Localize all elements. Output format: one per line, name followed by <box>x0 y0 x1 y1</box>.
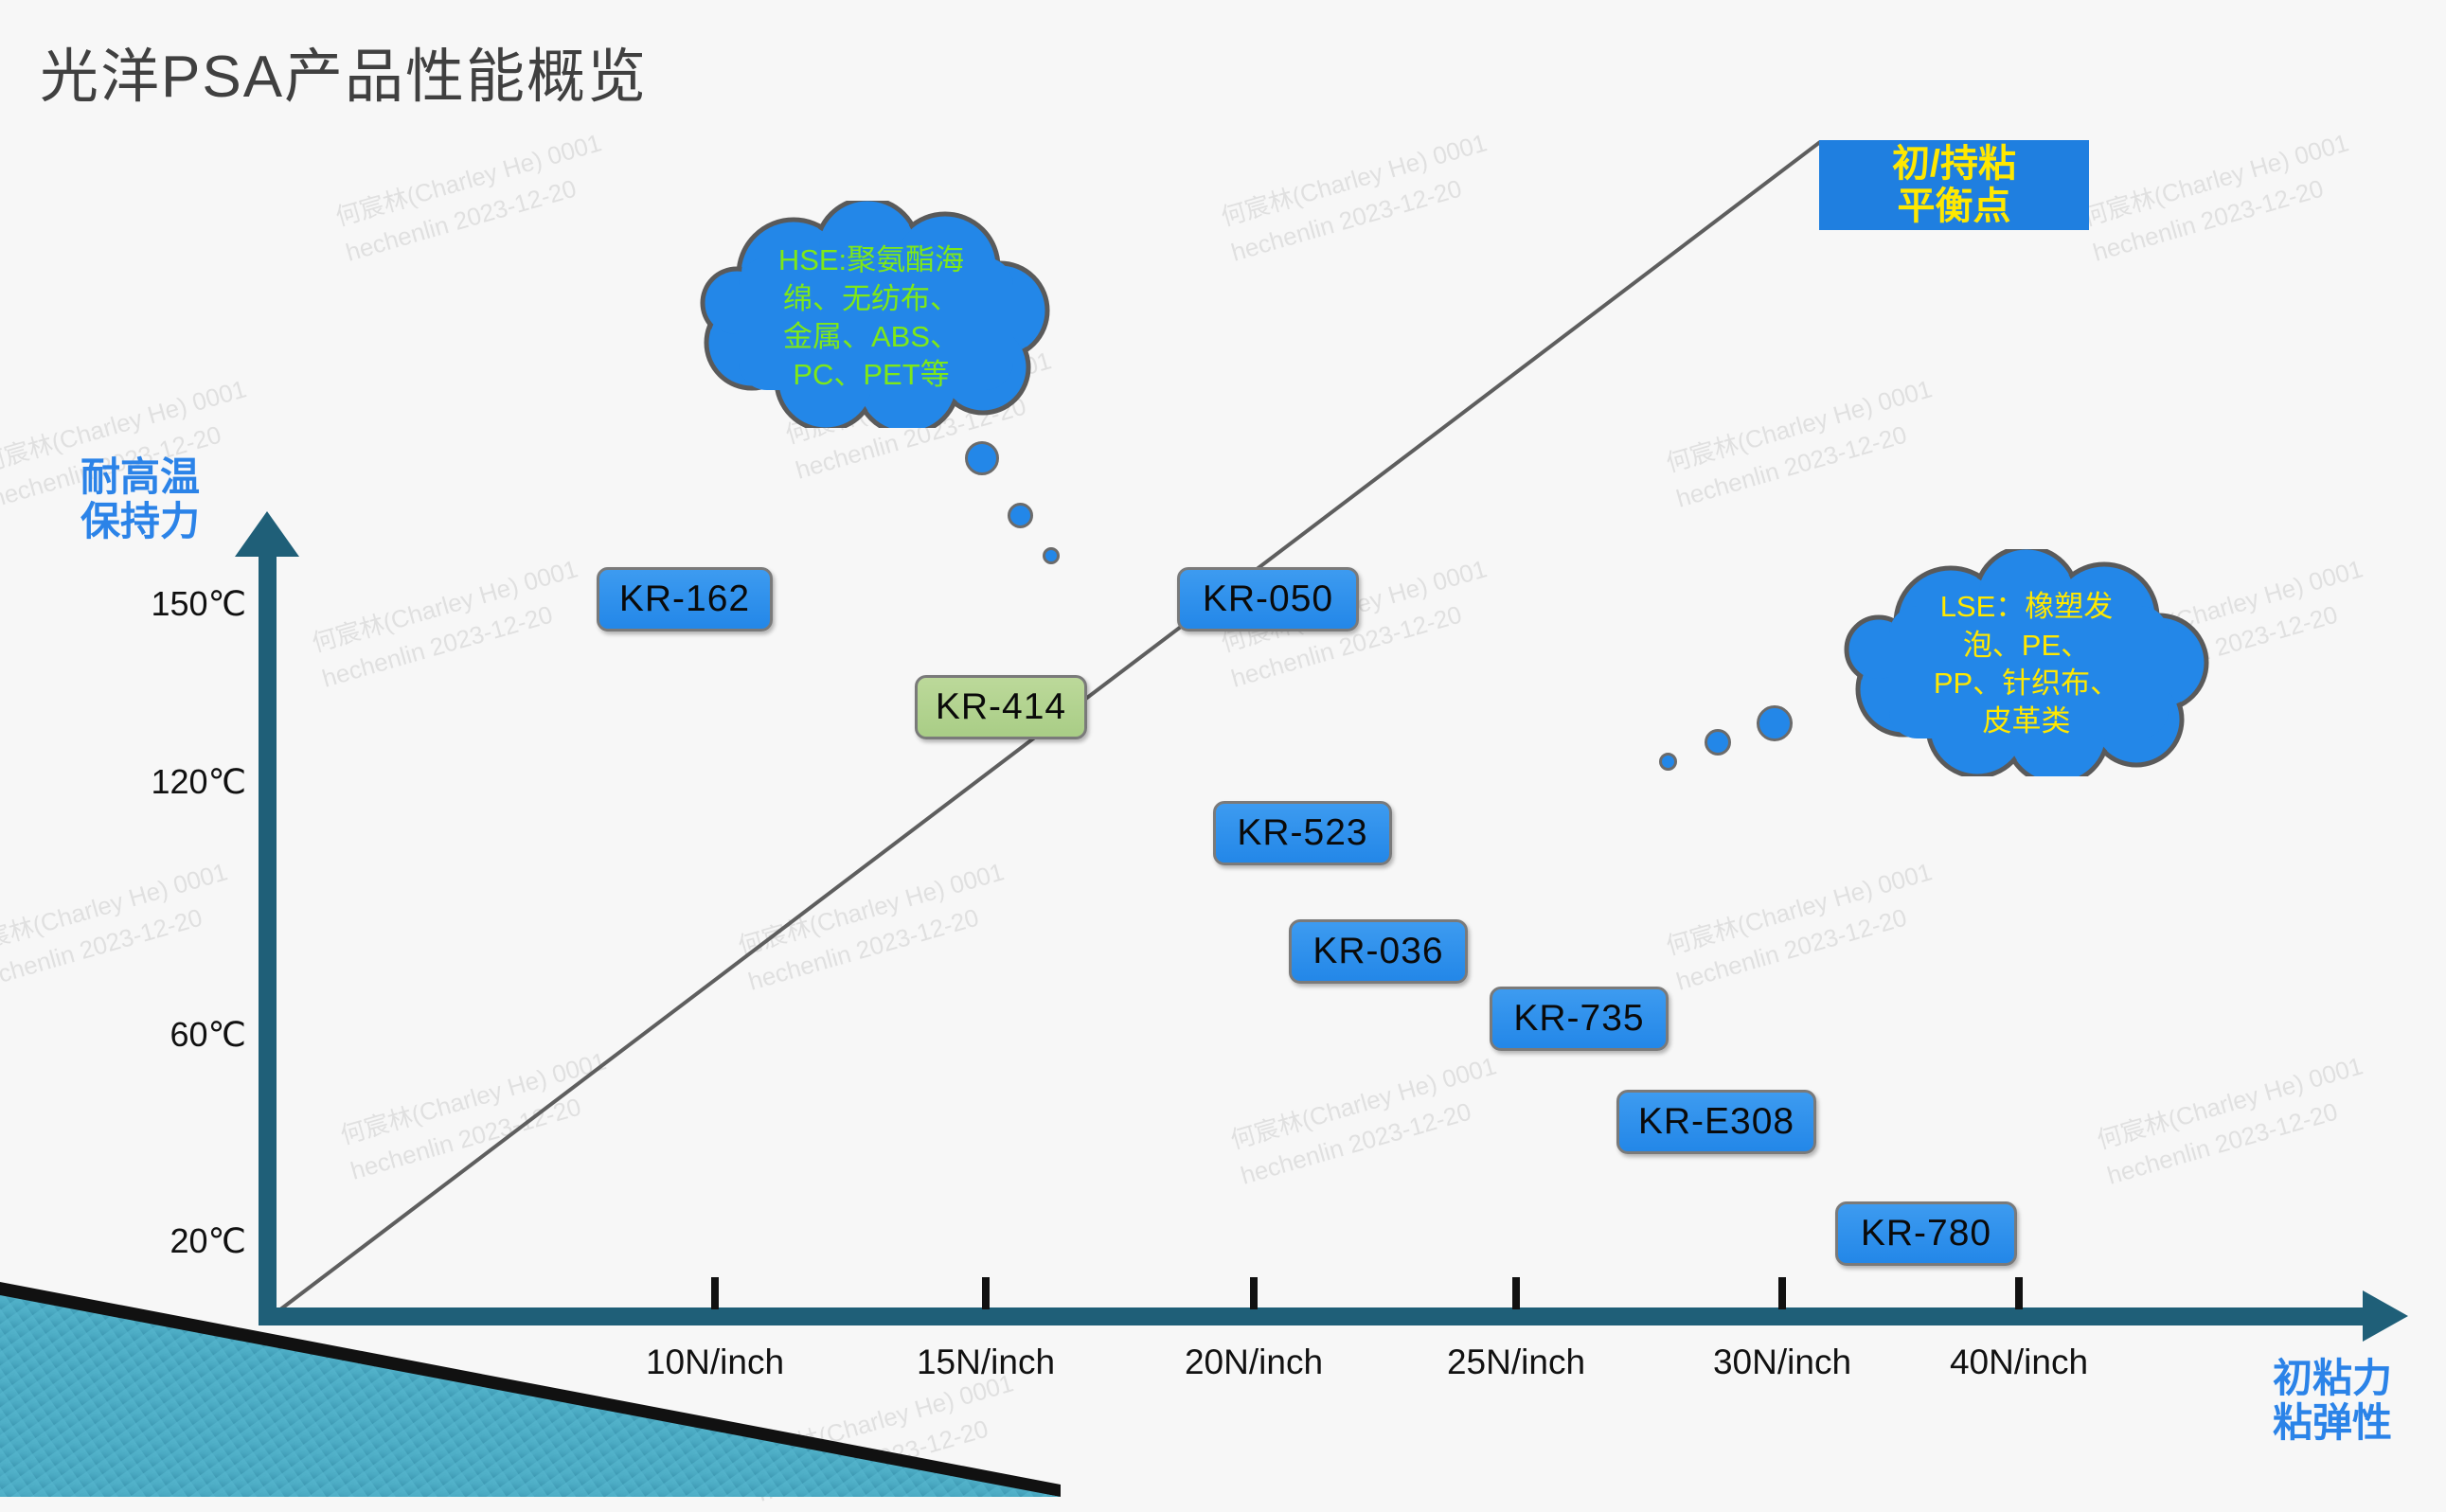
lse-bubble-small <box>1659 753 1677 771</box>
watermark: 何宸林(Charley He) 0001hechenlin 2023-12-20 <box>734 853 1019 1000</box>
decorative-banner <box>0 1269 1061 1497</box>
x-tick-label-25: 25N/inch <box>1402 1343 1630 1382</box>
y-axis-title: 耐高温保持力 <box>45 454 235 543</box>
watermark: 何宸林(Charley He) 0001hechenlin 2023-12-20 <box>1226 1047 1511 1194</box>
watermark: 何宸林(Charley He) 0001hechenlin 2023-12-20 <box>336 1042 621 1189</box>
hse-bubble-small <box>1043 547 1060 564</box>
x-tick-mark <box>1512 1277 1520 1309</box>
product-label-kr-735[interactable]: KR-735 <box>1490 987 1669 1051</box>
watermark: 何宸林(Charley He) 0001hechenlin 2023-12-20 <box>1662 370 1947 517</box>
y-axis-arrow-icon <box>235 511 299 557</box>
x-axis-arrow-icon <box>2363 1290 2408 1342</box>
x-tick-mark <box>1250 1277 1258 1309</box>
y-tick-label-120: 120℃ <box>95 762 246 802</box>
hse-bubble-large <box>965 441 999 475</box>
x-tick-label-30: 30N/inch <box>1669 1343 1896 1382</box>
lse-cloud-text: LSE：橡塑发 泡、PE、 PP、针织布、 皮革类 <box>1837 549 2216 778</box>
x-tick-mark <box>2015 1277 2023 1309</box>
hse-cloud-callout[interactable]: HSE:聚氨酯海 绵、无纺布、 金属、ABS、 PC、PET等 <box>682 201 1061 428</box>
watermark: 何宸林(Charley He) 0001hechenlin 2023-12-20 <box>308 550 593 697</box>
hse-bubble-medium <box>1008 503 1033 528</box>
y-axis-line <box>259 544 277 1325</box>
watermark: 何宸林(Charley He) 0001hechenlin 2023-12-20 <box>0 853 242 1000</box>
y-tick-label-150: 150℃ <box>95 584 246 624</box>
lse-bubble-medium <box>1705 729 1731 756</box>
product-label-kr-036[interactable]: KR-036 <box>1289 919 1468 984</box>
slide-canvas: 何宸林(Charley He) 0001hechenlin 2023-12-20… <box>0 0 2446 1497</box>
product-label-kr-162[interactable]: KR-162 <box>597 567 773 631</box>
y-tick-label-60: 60℃ <box>95 1015 246 1055</box>
watermark: 何宸林(Charley He) 0001hechenlin 2023-12-20 <box>2093 1047 2378 1194</box>
x-tick-mark <box>1778 1277 1786 1309</box>
lse-cloud-callout[interactable]: LSE：橡塑发 泡、PE、 PP、针织布、 皮革类 <box>1837 549 2216 776</box>
balance-point-callout[interactable]: 初/持粘 平衡点 <box>1819 140 2089 230</box>
watermark: 何宸林(Charley He) 0001hechenlin 2023-12-20 <box>1217 124 1502 271</box>
product-label-kr-780[interactable]: KR-780 <box>1835 1201 2017 1266</box>
page-title: 光洋PSA产品性能概览 <box>40 28 648 114</box>
x-tick-label-20: 20N/inch <box>1140 1343 1367 1382</box>
product-label-kr-050[interactable]: KR-050 <box>1177 567 1359 631</box>
watermark: 何宸林(Charley He) 0001hechenlin 2023-12-20 <box>331 124 616 271</box>
product-label-kr-414[interactable]: KR-414 <box>915 675 1087 739</box>
hse-cloud-text: HSE:聚氨酯海 绵、无纺布、 金属、ABS、 PC、PET等 <box>682 201 1061 432</box>
x-tick-label-40: 40N/inch <box>1905 1343 2133 1382</box>
watermark: 何宸林(Charley He) 0001hechenlin 2023-12-20 <box>1662 853 1947 1000</box>
y-tick-label-20: 20℃ <box>95 1221 246 1261</box>
product-label-kr-e308[interactable]: KR-E308 <box>1616 1090 1816 1154</box>
watermark: 何宸林(Charley He) 0001hechenlin 2023-12-20 <box>2079 124 2364 271</box>
lse-bubble-large <box>1757 705 1793 741</box>
product-label-kr-523[interactable]: KR-523 <box>1213 801 1392 865</box>
x-axis-title: 初粘力粘弹性 <box>2233 1356 2432 1445</box>
